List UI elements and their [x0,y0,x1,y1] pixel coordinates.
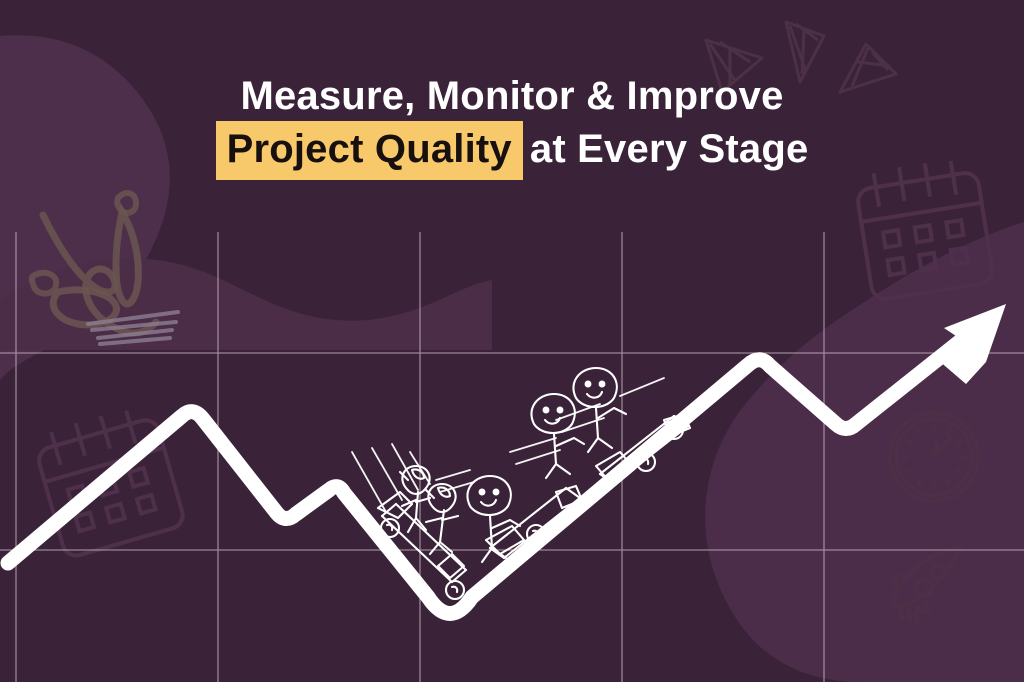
stick-figure-carts-illustration [0,0,1024,682]
banner-hero: Measure, Monitor & Improve Project Quali… [0,0,1024,682]
cart [378,492,466,599]
cart [596,414,690,484]
cart [486,486,582,558]
stick-figure [426,484,458,554]
stick-figure [467,476,520,562]
stick-figure [531,394,584,478]
